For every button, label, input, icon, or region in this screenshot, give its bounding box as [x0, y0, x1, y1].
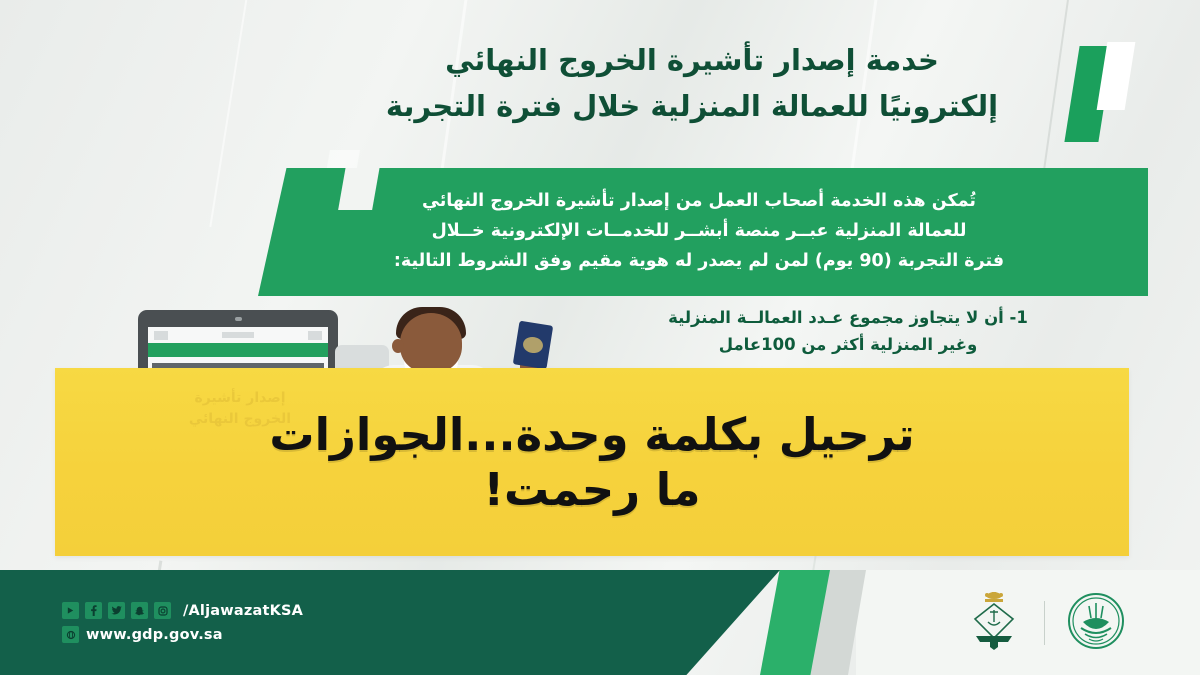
bg-streak [209, 0, 252, 227]
tablet-tile [222, 332, 254, 338]
headline-line-2: ما رحمت! [483, 463, 700, 516]
title-line-1: خدمة إصدار تأشيرة الخروج النهائي [272, 38, 1112, 84]
intro-line-3: فترة التجربة (90 يوم) لمن لم يصدر له هوي… [268, 246, 1130, 276]
infographic-canvas: خدمة إصدار تأشيرة الخروج النهائي إلكترون… [0, 0, 1200, 675]
title-line-2: إلكترونيًا للعمالة المنزلية خلال فترة ال… [272, 84, 1112, 130]
intro-line-2: للعمالة المنزلية عبــر منصة أبشــر للخدم… [268, 216, 1130, 246]
emblem-divider [1044, 601, 1045, 645]
condition-1-line-1: 1- أن لا يتجاوز مجموع عـدد العمالــة الم… [568, 305, 1128, 332]
person-head [400, 313, 462, 373]
saudi-passports-directorate-emblem [966, 592, 1022, 654]
website-link[interactable]: www.gdp.gov.sa [62, 626, 223, 643]
intro-paragraph: تُمكن هذه الخدمة أصحاب العمل من إصدار تأ… [268, 186, 1130, 276]
headline-line-1: ترحيل بكلمة وحدة...الجوازات [269, 408, 914, 461]
social-links[interactable]: /AljawazatKSA [62, 602, 303, 619]
footer-panel [0, 570, 780, 675]
intro-line-1: تُمكن هذه الخدمة أصحاب العمل من إصدار تأ… [268, 186, 1130, 216]
tablet-camera-icon [235, 317, 242, 321]
headline-text: ترحيل بكلمة وحدة...الجوازات ما رحمت! [55, 368, 1129, 556]
instagram-icon[interactable] [154, 602, 171, 619]
saudi-flag-mark-icon [1072, 46, 1138, 142]
condition-1-line-2: وغير المنزلية أكثر من 100عامل [568, 332, 1128, 359]
twitter-icon[interactable] [108, 602, 125, 619]
footer-emblems [930, 588, 1160, 658]
person-ear [392, 339, 404, 353]
page-title: خدمة إصدار تأشيرة الخروج النهائي إلكترون… [272, 38, 1112, 130]
globe-icon[interactable] [62, 626, 79, 643]
condition-item-1: 1- أن لا يتجاوز مجموع عـدد العمالــة الم… [568, 305, 1128, 358]
website-url[interactable]: www.gdp.gov.sa [86, 627, 223, 643]
social-handle[interactable]: /AljawazatKSA [177, 603, 303, 619]
tablet-tile [308, 331, 322, 340]
youtube-icon[interactable] [62, 602, 79, 619]
snapchat-icon[interactable] [131, 602, 148, 619]
facebook-icon[interactable] [85, 602, 102, 619]
tablet-nav-bar [148, 343, 328, 357]
tablet-tile [154, 331, 168, 340]
ministry-of-interior-emblem [1067, 592, 1125, 654]
